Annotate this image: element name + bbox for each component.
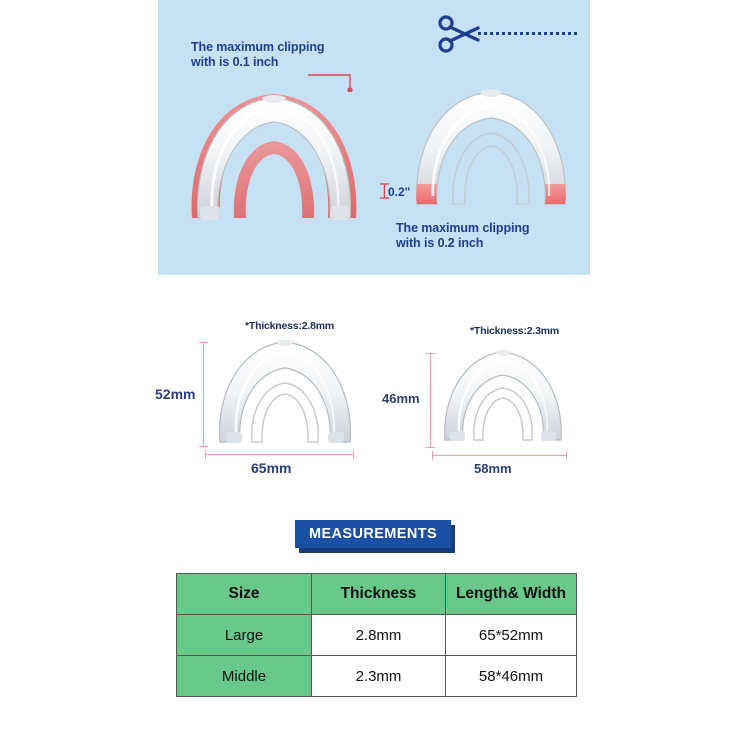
cell-size-large: Large xyxy=(177,615,312,656)
height-cap-top-middle xyxy=(426,353,435,354)
width-cap-right-middle xyxy=(566,451,567,460)
table-header-size: Size xyxy=(177,574,312,615)
table-header-length-width: Length& Width xyxy=(446,574,577,615)
size-comparison-middle: *Thickness:2.3mm 46mm 58mm xyxy=(378,325,588,483)
mouthguard-illustration-large xyxy=(210,332,360,450)
width-dimension-line-large xyxy=(205,454,353,455)
measurements-banner-title: MEASUREMENTS xyxy=(309,526,437,542)
table-header-row: Size Thickness Length& Width xyxy=(177,574,577,615)
height-cap-top-large xyxy=(199,342,208,343)
measurements-banner: MEASUREMENTS xyxy=(295,520,451,548)
thickness-label-middle: *Thickness:2.3mm xyxy=(470,325,559,337)
height-dimension-line-middle xyxy=(430,353,431,447)
cut-indicator xyxy=(438,14,583,54)
dotted-cut-line xyxy=(478,32,580,35)
cell-length-width-middle: 58*46mm xyxy=(446,656,577,697)
mouthguard-illustration-middle xyxy=(436,343,571,447)
mouthguard-illustration-right xyxy=(403,72,583,214)
height-label-middle: 46mm xyxy=(382,391,420,406)
height-cap-bottom-middle xyxy=(426,447,435,448)
height-label-large: 52mm xyxy=(155,386,195,402)
table-row: Middle 2.3mm 58*46mm xyxy=(177,656,577,697)
instruction-panel: The maximum clipping with is 0.1 inch xyxy=(158,0,590,275)
table-header-thickness: Thickness xyxy=(312,574,446,615)
width-cap-left-large xyxy=(205,450,206,459)
height-dimension-line-large xyxy=(203,342,204,446)
cell-thickness-large: 2.8mm xyxy=(312,615,446,656)
measurements-table-wrap: Size Thickness Length& Width Large 2.8mm… xyxy=(176,573,573,697)
cell-thickness-middle: 2.3mm xyxy=(312,656,446,697)
thickness-label-large: *Thickness:2.8mm xyxy=(245,320,334,332)
dimension-marker-label: 0.2" xyxy=(388,185,410,199)
width-dimension-line-middle xyxy=(432,455,566,456)
width-label-middle: 58mm xyxy=(474,461,512,476)
callout-right-text: The maximum clipping with is 0.2 inch xyxy=(396,221,529,251)
table-row: Large 2.8mm 65*52mm xyxy=(177,615,577,656)
height-cap-bottom-large xyxy=(199,446,208,447)
cell-size-middle: Middle xyxy=(177,656,312,697)
callout-left-text: The maximum clipping with is 0.1 inch xyxy=(191,40,324,70)
mouthguard-illustration-left xyxy=(178,68,378,228)
width-cap-right-large xyxy=(353,450,354,459)
size-comparison-large: *Thickness:2.8mm 52mm 65mm xyxy=(155,318,375,483)
width-label-large: 65mm xyxy=(251,460,291,476)
cell-length-width-large: 65*52mm xyxy=(446,615,577,656)
width-cap-left-middle xyxy=(432,451,433,460)
measurements-table: Size Thickness Length& Width Large 2.8mm… xyxy=(176,573,577,697)
scissors-icon xyxy=(438,14,480,54)
